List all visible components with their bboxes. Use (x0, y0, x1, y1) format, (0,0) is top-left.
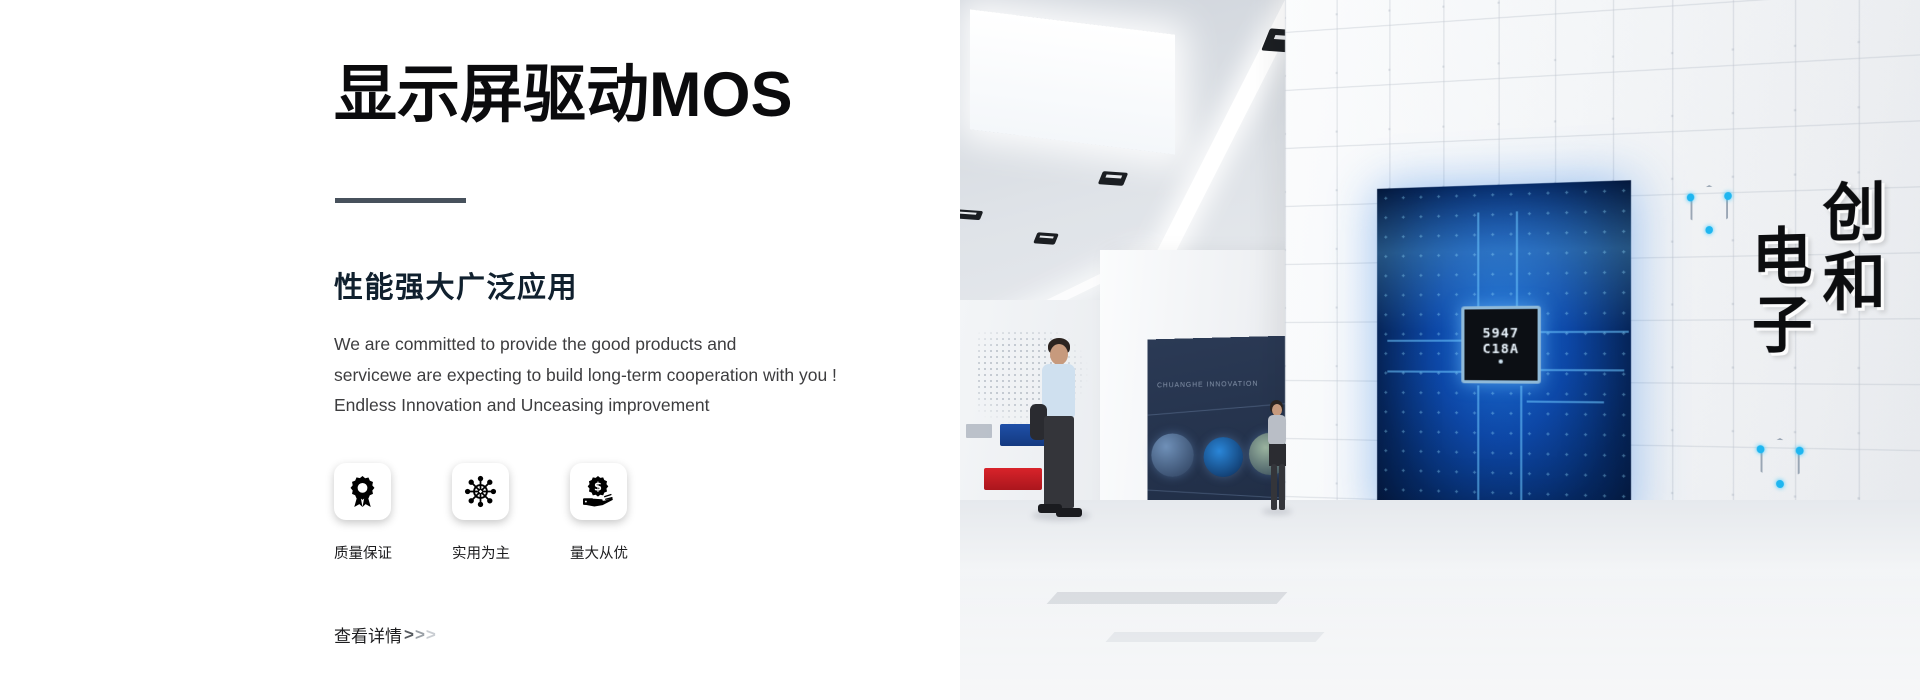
chip-code-line-2: C18A (1482, 341, 1519, 357)
chip-code-line-1: 5947 (1482, 325, 1519, 341)
feature-badge (334, 463, 391, 520)
view-details-link[interactable]: 查看详情 > > > (334, 622, 435, 647)
person-visitor (1260, 400, 1294, 515)
circuit-trace (1477, 385, 1479, 500)
feature-item-bulk[interactable]: $ 量大从优 (570, 463, 658, 563)
exhibit-circle-1 (1151, 433, 1193, 477)
feature-item-practical[interactable]: 实用为主 (452, 463, 540, 563)
person-shoe-right (1056, 508, 1082, 517)
person-head (1050, 344, 1068, 365)
exhibit-circle-2 (1204, 437, 1243, 477)
page-title: 显示屏驱动MOS (334, 62, 793, 128)
person-shadow (1262, 508, 1292, 515)
award-ribbon-icon (346, 475, 379, 508)
logo-text-left: 电子 (1745, 223, 1805, 360)
banner-content: 显示屏驱动MOS 性能强大广泛应用 We are committed to pr… (334, 0, 934, 700)
person-businessman (1028, 338, 1098, 520)
ceiling-spotlight-2 (1098, 171, 1129, 186)
feature-label: 质量保证 (334, 542, 392, 563)
person-skirt (1269, 444, 1286, 466)
hex-molecule-icon-top (1691, 184, 1728, 230)
person-leg-right (1279, 464, 1285, 510)
chevron-right-icon-2: > (415, 625, 424, 645)
network-hub-icon (464, 475, 497, 508)
chip-pin-dot (1499, 360, 1503, 364)
person-leg-left (1271, 464, 1277, 510)
description-line-3: Endless Innovation and Unceasing improve… (334, 390, 879, 421)
banner-text-pane: 显示屏驱动MOS 性能强大广泛应用 We are committed to pr… (0, 0, 960, 700)
chevron-right-icon-3: > (426, 625, 435, 645)
feature-label: 量大从优 (570, 542, 628, 563)
showroom-photo: CHUANGHE INNOVATION 5947 C1 (960, 0, 1920, 700)
feature-list: 质量保证 (334, 463, 658, 563)
description-line-1: We are committed to provide the good pro… (334, 329, 879, 360)
circuit-trace (1387, 370, 1462, 372)
hero-banner: 显示屏驱动MOS 性能强大广泛应用 We are committed to pr… (0, 0, 1920, 700)
led-display-screen: 5947 C18A (1377, 180, 1631, 529)
person-legs (1044, 416, 1074, 508)
description-paragraph: We are committed to provide the good pro… (334, 329, 879, 421)
feature-badge (452, 463, 509, 520)
ceiling-spotlight-4 (960, 209, 983, 220)
feature-item-quality[interactable]: 质量保证 (334, 463, 422, 563)
circuit-trace (1527, 331, 1629, 333)
exhibit-caption: CHUANGHE INNOVATION (1157, 381, 1258, 390)
skylight-panel (970, 9, 1175, 154)
floor-reflection (960, 550, 1920, 700)
sub-title: 性能强大广泛应用 (334, 264, 578, 306)
feature-label: 实用为主 (452, 542, 510, 563)
circuit-trace (1520, 386, 1522, 502)
description-line-2: servicewe are expecting to build long-te… (334, 360, 879, 391)
view-details-label: 查看详情 (334, 622, 402, 647)
hex-molecule-icon-bottom (1761, 437, 1800, 485)
ceiling-spotlight-3 (1033, 232, 1059, 245)
chip-graphic: 5947 C18A (1461, 305, 1541, 383)
person-top (1268, 415, 1286, 445)
title-divider (335, 198, 466, 203)
logo-text-right: 创和 (1816, 178, 1879, 318)
chevron-right-icon-1: > (404, 625, 413, 645)
hand-money-icon: $ (582, 475, 615, 508)
feature-badge: $ (570, 463, 627, 520)
svg-text:$: $ (594, 479, 602, 493)
company-logo-sign: 创和 电子 (1685, 172, 1881, 471)
wall-plaque-small (966, 424, 992, 438)
